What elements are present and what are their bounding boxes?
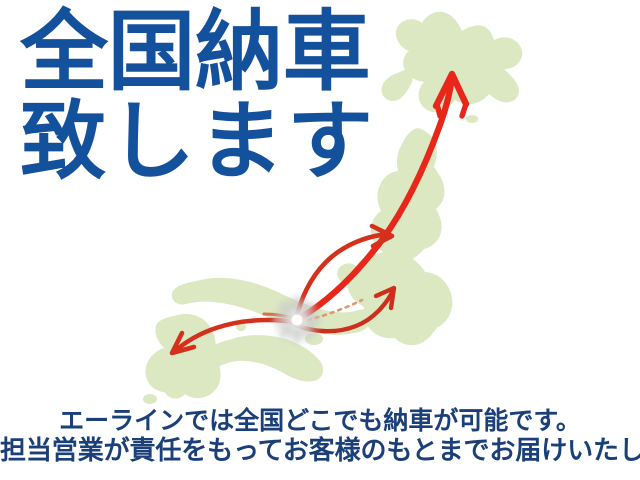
banner-canvas: 全国納車 致します エーラインでは全国どこでも納車が可能です。 担当営業が責任を… [0, 0, 640, 480]
headline-line-1: 全国納車 [20, 8, 376, 94]
headline: 全国納車 致します [20, 8, 376, 185]
bottom-copy-line-1: エーラインでは全国どこでも納車が可能です。 [0, 406, 640, 437]
region-honshu-central [347, 251, 449, 345]
island-dot-4 [466, 115, 478, 123]
bottom-copy-line-2: 担当営業が責任をもってお客様のもとまでお届けいたします。 [0, 436, 640, 468]
arrow-to-kanto [296, 288, 394, 331]
region-hokkaido [396, 12, 522, 113]
island-dot-1 [143, 394, 157, 404]
bottom-copy: エーラインでは全国どこでも納車が可能です。 担当営業が責任をもってお客様のもとま… [0, 406, 640, 468]
arrow-dotted-trace [300, 300, 362, 322]
island-dot-3 [305, 333, 323, 345]
region-shikoku [204, 335, 323, 381]
headline-line-2: 致します [20, 100, 376, 184]
arrow-to-kyushu [172, 320, 294, 353]
arrow-to-tohoku [296, 226, 392, 320]
delivery-origin-burst [271, 294, 323, 346]
region-honshu-noto [337, 263, 359, 284]
region-kyushu [145, 314, 220, 398]
region-kyushu-south [164, 372, 189, 399]
region-honshu-west [172, 278, 371, 335]
region-hokkaido-oshima [382, 70, 413, 101]
arrow-west-tail [264, 314, 300, 320]
region-honshu-north [371, 128, 445, 262]
region-honshu-kanto [405, 272, 453, 330]
island-dot-2 [236, 323, 246, 331]
